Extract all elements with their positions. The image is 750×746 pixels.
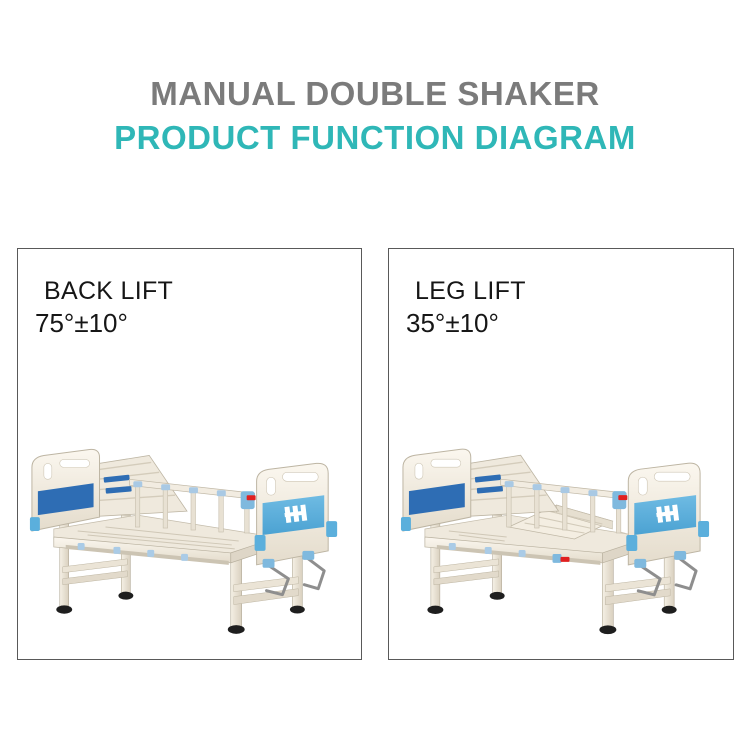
headboard-corner-cap [401, 517, 411, 531]
footboard-corner-cap-right [326, 521, 337, 537]
footboard-logo [284, 505, 307, 523]
back-lift-angle: 75°±10° [35, 307, 173, 340]
crank-handle-right [304, 559, 324, 589]
panel-back-lift: BACK LIFT 75°±10° [17, 248, 362, 660]
page-title-line-2: PRODUCT FUNCTION DIAGRAM [0, 117, 750, 159]
headboard [30, 449, 100, 531]
deck-release-button [561, 557, 570, 562]
footboard-corner-cap-right [698, 521, 709, 537]
page-title-line-1: MANUAL DOUBLE SHAKER [0, 74, 750, 114]
panel-leg-lift: LEG LIFT 35°±10° [388, 248, 734, 660]
headboard-corner-cap [30, 517, 40, 531]
page-title: MANUAL DOUBLE SHAKER PRODUCT FUNCTION DI… [0, 74, 750, 159]
footboard-corner-cap [255, 535, 266, 551]
footboard-corner-cap [626, 535, 637, 551]
leg-lift-angle: 35°±10° [406, 307, 526, 340]
panel-back-lift-label: BACK LIFT 75°±10° [44, 275, 173, 340]
bed-illustration-leg-lift [389, 419, 733, 649]
back-lift-title: BACK LIFT [44, 275, 173, 307]
leg-lift-title: LEG LIFT [415, 275, 526, 307]
side-rail-release-button [247, 495, 256, 500]
bed-svg-leg-lift [389, 419, 733, 649]
footboard [255, 463, 338, 564]
bed-illustration-back-lift [18, 419, 361, 649]
crank-handle-right [676, 559, 696, 589]
footboard [626, 463, 709, 565]
bed-svg-back-lift [18, 419, 361, 649]
panel-leg-lift-label: LEG LIFT 35°±10° [415, 275, 526, 340]
product-function-diagram-page: MANUAL DOUBLE SHAKER PRODUCT FUNCTION DI… [0, 0, 750, 746]
headboard [401, 449, 471, 531]
footboard-logo [656, 504, 679, 522]
side-rail-release-button [618, 495, 627, 500]
